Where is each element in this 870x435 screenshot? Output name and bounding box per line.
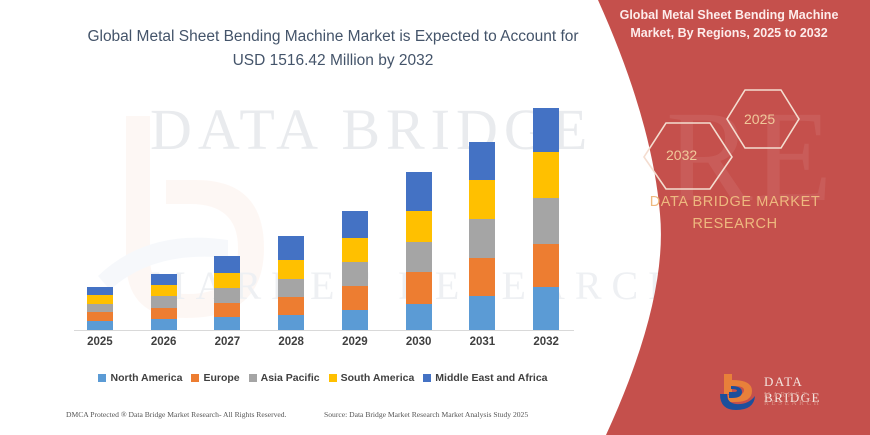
hexagon-badges: 2025 2032 bbox=[640, 86, 830, 191]
stacked-bar[interactable] bbox=[342, 211, 368, 330]
x-axis-label: 2031 bbox=[451, 336, 515, 348]
stacked-bar[interactable] bbox=[406, 172, 432, 330]
x-axis-label: 2028 bbox=[259, 336, 323, 348]
bar-segment bbox=[151, 285, 177, 296]
bar-segment bbox=[406, 272, 432, 304]
bar-slot bbox=[259, 96, 323, 330]
bar-segment bbox=[469, 219, 495, 258]
chart-legend: North AmericaEuropeAsia PacificSouth Ame… bbox=[68, 372, 578, 384]
bar-segment bbox=[87, 321, 113, 330]
legend-swatch-icon bbox=[329, 374, 337, 382]
bar-slot bbox=[323, 96, 387, 330]
bar-segment bbox=[342, 262, 368, 286]
bar-segment bbox=[533, 152, 559, 198]
legend-item[interactable]: Europe bbox=[191, 372, 239, 384]
stacked-bar[interactable] bbox=[278, 236, 304, 330]
bar-segment bbox=[87, 312, 113, 321]
bar-segment bbox=[214, 256, 240, 273]
bar-segment bbox=[214, 288, 240, 302]
bar-segment bbox=[151, 274, 177, 285]
bar-segment bbox=[406, 211, 432, 242]
bar-segment bbox=[278, 279, 304, 297]
hexagon-shapes bbox=[640, 86, 830, 191]
bar-segment bbox=[214, 303, 240, 317]
bar-segment bbox=[278, 260, 304, 279]
x-axis-label: 2030 bbox=[387, 336, 451, 348]
bar-segment bbox=[406, 242, 432, 273]
x-axis-label: 2025 bbox=[68, 336, 132, 348]
bar-segment bbox=[469, 258, 495, 297]
bar-segment bbox=[151, 296, 177, 307]
x-axis-label: 2026 bbox=[132, 336, 196, 348]
stacked-bar[interactable] bbox=[87, 287, 113, 330]
panel-title: Global Metal Sheet Bending Machine Marke… bbox=[598, 6, 860, 42]
bar-segment bbox=[87, 295, 113, 303]
bar-slot bbox=[132, 96, 196, 330]
logo-b-icon bbox=[718, 372, 760, 412]
bar-segment bbox=[87, 287, 113, 295]
x-axis-label: 2027 bbox=[196, 336, 260, 348]
bar-segment bbox=[533, 108, 559, 152]
bar-slot bbox=[68, 96, 132, 330]
page-title: Global Metal Sheet Bending Machine Marke… bbox=[78, 25, 588, 73]
footer-copyright: DMCA Protected ® Data Bridge Market Rese… bbox=[66, 410, 286, 419]
legend-label: North America bbox=[110, 372, 182, 384]
x-axis-line bbox=[74, 330, 574, 331]
bar-segment bbox=[469, 180, 495, 219]
legend-item[interactable]: Middle East and Africa bbox=[423, 372, 547, 384]
bar-segment bbox=[214, 317, 240, 330]
bar-segment bbox=[87, 304, 113, 312]
legend-label: Asia Pacific bbox=[261, 372, 320, 384]
infographic-root: DATA BRIDGE MARKET RESEARCH Global Metal… bbox=[0, 0, 870, 435]
stacked-bar[interactable] bbox=[533, 108, 559, 330]
footer-source: Source: Data Bridge Market Research Mark… bbox=[324, 410, 528, 419]
legend-label: Europe bbox=[203, 372, 239, 384]
bar-segment bbox=[151, 308, 177, 319]
bar-segment bbox=[342, 211, 368, 238]
legend-item[interactable]: South America bbox=[329, 372, 415, 384]
bar-slot bbox=[451, 96, 515, 330]
stacked-bar[interactable] bbox=[151, 274, 177, 330]
bar-segment bbox=[342, 286, 368, 309]
bar-segment bbox=[406, 304, 432, 330]
legend-label: Middle East and Africa bbox=[435, 372, 547, 384]
bar-segment bbox=[151, 319, 177, 330]
x-axis-label: 2032 bbox=[514, 336, 578, 348]
brand-name: DATA BRIDGE MARKET RESEARCH bbox=[620, 192, 850, 236]
stacked-bar[interactable] bbox=[469, 142, 495, 330]
x-axis-labels: 20252026202720282029203020312032 bbox=[68, 336, 578, 348]
legend-swatch-icon bbox=[191, 374, 199, 382]
bar-slot bbox=[514, 96, 578, 330]
legend-swatch-icon bbox=[423, 374, 431, 382]
bar-segment bbox=[469, 296, 495, 330]
stacked-bar[interactable] bbox=[214, 256, 240, 330]
x-axis-label: 2029 bbox=[323, 336, 387, 348]
bar-segment bbox=[469, 142, 495, 181]
bar-slot bbox=[387, 96, 451, 330]
legend-item[interactable]: Asia Pacific bbox=[249, 372, 320, 384]
bar-segment bbox=[278, 236, 304, 259]
bar-segment bbox=[533, 198, 559, 244]
bar-segment bbox=[342, 310, 368, 330]
legend-item[interactable]: North America bbox=[98, 372, 182, 384]
logo-secondary-text: MARKET RESEARCH bbox=[764, 391, 858, 407]
bar-segment bbox=[406, 172, 432, 211]
bar-group bbox=[68, 96, 578, 330]
legend-swatch-icon bbox=[98, 374, 106, 382]
bar-segment bbox=[278, 315, 304, 330]
bar-segment bbox=[533, 287, 559, 330]
company-logo: DATA BRIDGE MARKET RESEARCH bbox=[718, 372, 858, 414]
legend-label: South America bbox=[341, 372, 415, 384]
hex-label-2032: 2032 bbox=[666, 147, 697, 163]
chart-plot-area bbox=[68, 96, 578, 330]
bar-slot bbox=[196, 96, 260, 330]
stacked-bar-chart: 20252026202720282029203020312032 bbox=[68, 96, 578, 336]
bar-segment bbox=[278, 297, 304, 314]
bar-segment bbox=[342, 238, 368, 261]
legend-swatch-icon bbox=[249, 374, 257, 382]
bar-segment bbox=[533, 244, 559, 288]
bar-segment bbox=[214, 273, 240, 288]
hex-label-2025: 2025 bbox=[744, 111, 775, 127]
